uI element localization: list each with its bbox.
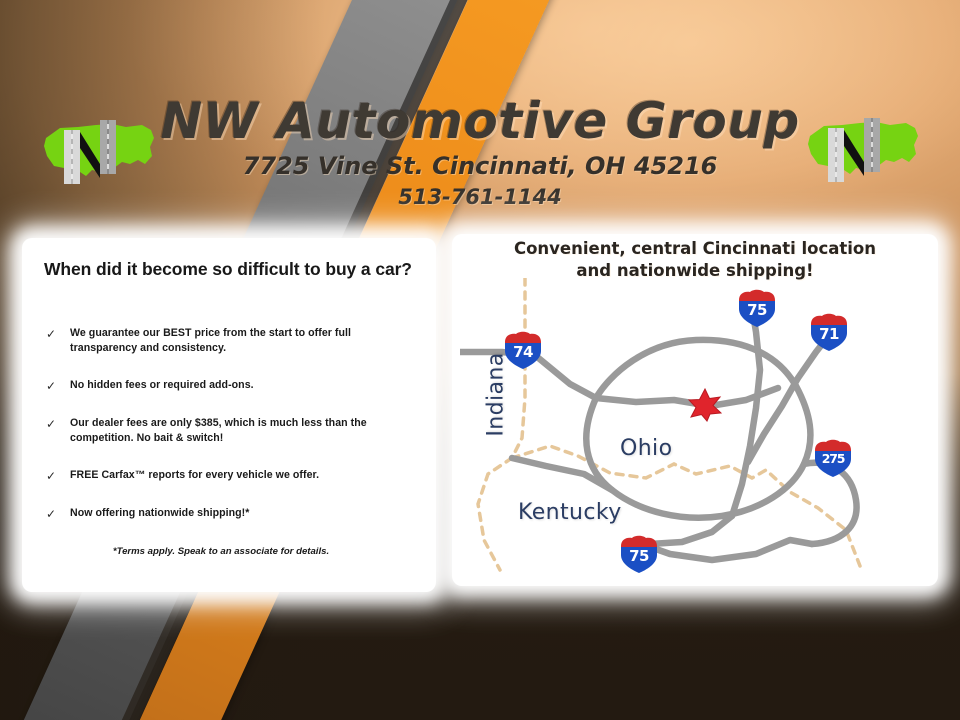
list-item: ✓ No hidden fees or required add-ons. [44,378,418,395]
state-label-ohio: Ohio [620,436,672,461]
list-item-text: FREE Carfax™ reports for every vehicle w… [70,468,418,483]
map-caption-line-1: Convenient, central Cincinnati location [452,238,938,260]
interstate-75-south-shield: 75 [618,534,660,574]
checkmark-icon: ✓ [44,326,70,343]
list-item: ✓ Our dealer fees are only $385, which i… [44,416,418,447]
map-panel: Convenient, central Cincinnati location … [452,234,938,586]
list-item-text: We guarantee our BEST price from the sta… [70,326,418,357]
shield-number: 74 [502,343,544,361]
terms-footnote: *Terms apply. Speak to an associate for … [22,546,420,557]
star-icon [688,388,722,422]
usa-road-n-icon [802,106,924,188]
list-item: ✓ We guarantee our BEST price from the s… [44,326,418,357]
map-roads-layer [460,278,930,578]
benefits-panel: When did it become so difficult to buy a… [22,238,436,592]
nw-automotive-logo-left [38,108,160,190]
map-caption: Convenient, central Cincinnati location … [452,238,938,283]
shield-number: 71 [808,325,850,343]
list-item: ✓ Now offering nationwide shipping!* [44,506,418,523]
usa-road-n-icon [38,108,160,190]
cincinnati-region-map: Indiana Ohio Kentucky 74 75 [460,278,930,578]
shield-number: 75 [618,547,660,565]
interstate-275-shield: 275 [812,438,854,478]
benefits-list: ✓ We guarantee our BEST price from the s… [44,326,418,545]
checkmark-icon: ✓ [44,416,70,433]
list-item: ✓ FREE Carfax™ reports for every vehicle… [44,468,418,485]
presentation-slide: NW Automotive Group 7725 Vine St. Cincin… [0,0,960,720]
state-label-kentucky: Kentucky [518,500,622,525]
list-item-text: Now offering nationwide shipping!* [70,506,418,521]
shield-number: 275 [812,451,854,466]
checkmark-icon: ✓ [44,468,70,485]
shield-number: 75 [736,301,778,319]
checkmark-icon: ✓ [44,506,70,523]
interstate-74-shield: 74 [502,330,544,370]
nw-automotive-logo-right [802,106,924,188]
list-item-text: Our dealer fees are only $385, which is … [70,416,418,447]
checkmark-icon: ✓ [44,378,70,395]
panel-heading: When did it become so difficult to buy a… [44,258,416,280]
interstate-71-shield: 71 [808,312,850,352]
list-item-text: No hidden fees or required add-ons. [70,378,418,393]
interstate-75-north-shield: 75 [736,288,778,328]
dealership-location-star [688,388,722,422]
